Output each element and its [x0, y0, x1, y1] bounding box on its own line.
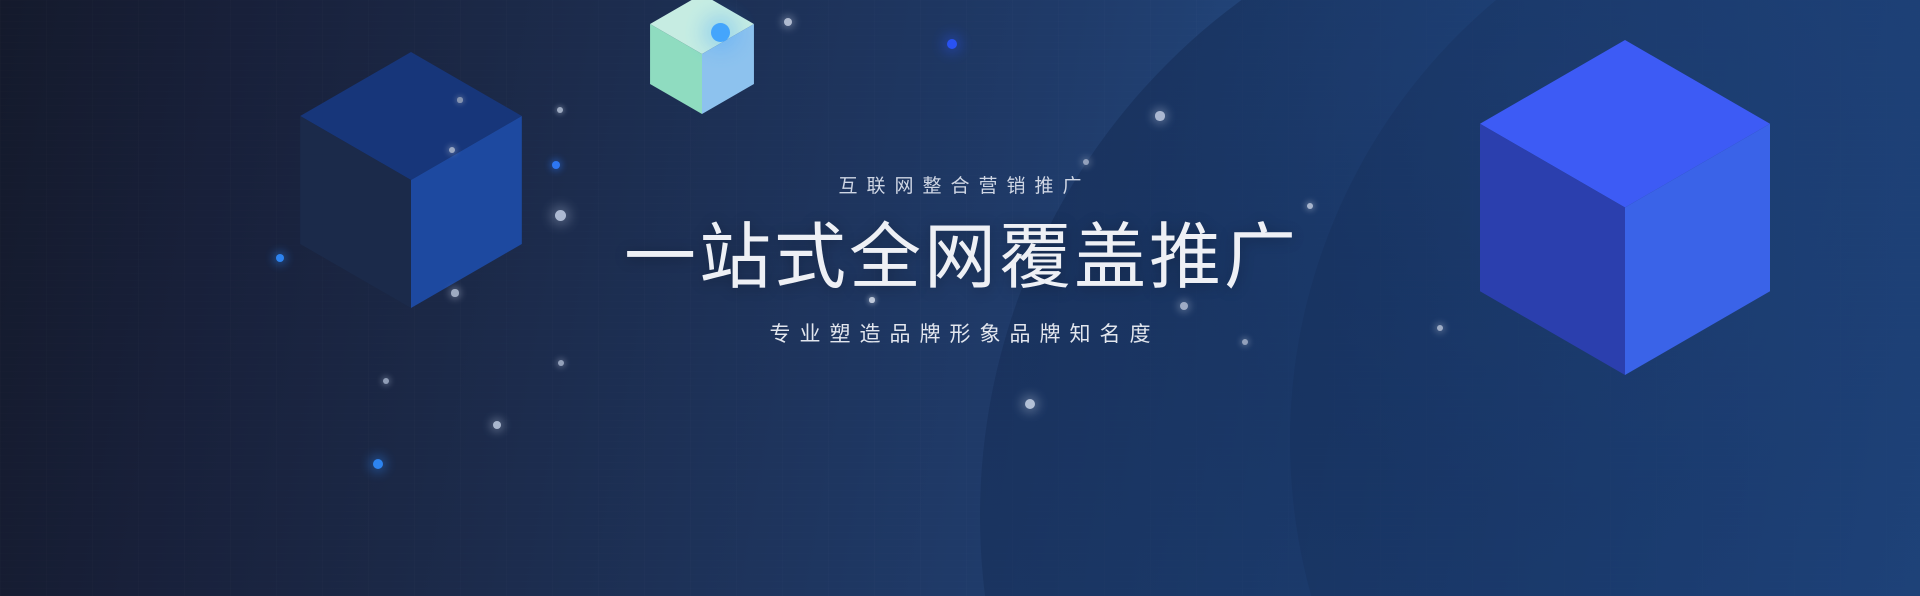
particle-dot — [1155, 111, 1164, 120]
hero-subline: 专业塑造品牌形象品牌知名度 — [0, 322, 1920, 347]
particle-dot — [383, 378, 389, 384]
hero-headline: 一站式全网覆盖推广 — [0, 217, 1920, 301]
particle-dot — [1083, 159, 1090, 166]
hero-eyebrow: 互联网整合营销推广 — [0, 176, 1920, 199]
particle-dot — [493, 421, 502, 430]
hero-text-block: 互联网整合营销推广 一站式全网覆盖推广 专业塑造品牌形象品牌知名度 — [0, 176, 1920, 348]
particle-dot — [552, 161, 560, 169]
particle-dot — [1025, 399, 1035, 409]
particle-dot — [947, 39, 957, 49]
particle-dot — [557, 107, 563, 113]
particle-dot — [784, 18, 792, 26]
particle-dot — [558, 360, 564, 366]
cube-small-teal-icon — [650, 0, 754, 114]
particle-dot — [373, 459, 383, 469]
hero-banner: 互联网整合营销推广 一站式全网覆盖推广 专业塑造品牌形象品牌知名度 — [0, 0, 1920, 596]
